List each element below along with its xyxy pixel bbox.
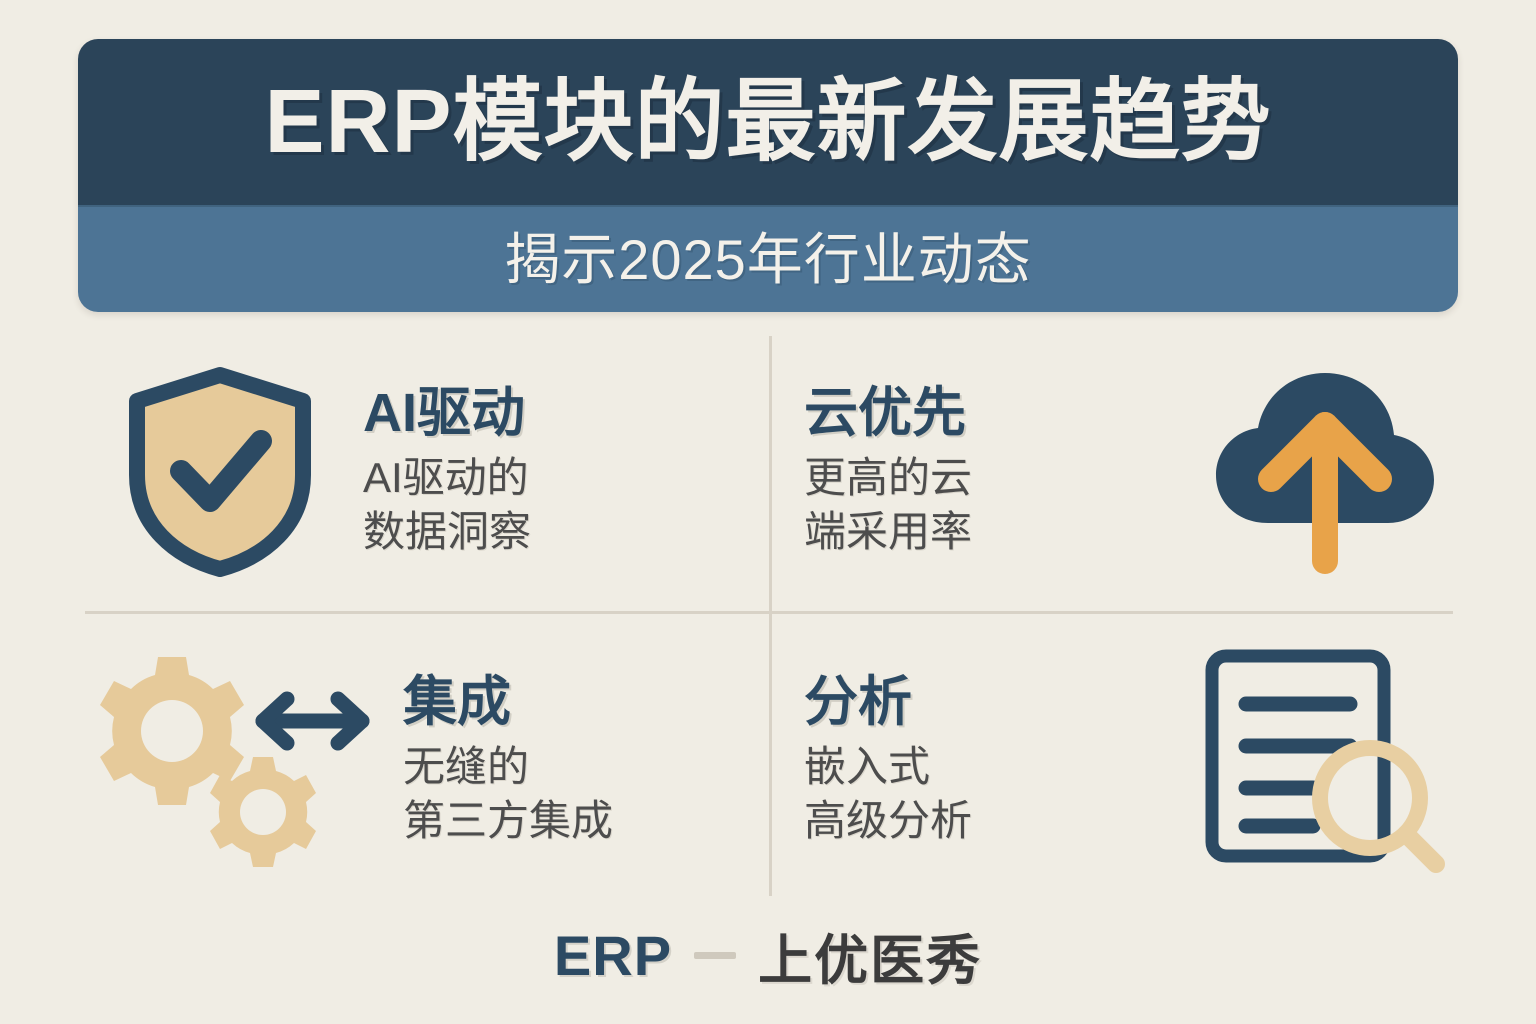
feature-desc-line2: 端采用率	[804, 505, 972, 560]
feature-heading-ai-driven: AI驱动	[363, 384, 525, 442]
feature-cell-cloud-first: 云优先 更高的云 端采用率	[790, 336, 1450, 608]
double-arrow-icon	[263, 699, 362, 743]
feature-heading-cloud-first: 云优先	[804, 384, 966, 442]
feature-desc-line2: 第三方集成	[403, 794, 613, 849]
page-subtitle: 揭示2025年行业动态	[504, 232, 1032, 288]
feature-desc-line2: 数据洞察	[363, 505, 531, 560]
footer-tagline: 上优医秀	[758, 916, 982, 995]
infographic-canvas: ERP模块的最新发展趋势 揭示2025年行业动态 AI驱动 AI驱动的 数据洞察…	[0, 0, 1536, 1024]
feature-cell-ai-driven: AI驱动 AI驱动的 数据洞察	[95, 336, 755, 608]
cloud-upload-icon	[1200, 357, 1450, 587]
feature-text-integration: 集成 无缝的 第三方集成	[385, 673, 755, 849]
footer-separator-dash	[694, 952, 736, 959]
grid-divider-horizontal	[85, 611, 1453, 614]
feature-desc-line1: 嵌入式	[804, 740, 972, 795]
shield-check-icon	[95, 357, 345, 587]
feature-desc-integration: 无缝的 第三方集成	[403, 740, 613, 849]
feature-desc-analytics: 嵌入式 高级分析	[804, 740, 972, 849]
feature-desc-line1: AI驱动的	[363, 451, 531, 506]
feature-text-analytics: 分析 嵌入式 高级分析	[790, 673, 1190, 849]
footer-brand: ERP	[554, 923, 672, 988]
feature-desc-line1: 更高的云	[804, 451, 972, 506]
feature-desc-ai-driven: AI驱动的 数据洞察	[363, 451, 531, 560]
document-search-icon	[1190, 646, 1450, 876]
subtitle-band: 揭示2025年行业动态	[78, 205, 1458, 312]
feature-desc-cloud-first: 更高的云 端采用率	[804, 451, 972, 560]
feature-cell-analytics: 分析 嵌入式 高级分析	[790, 625, 1450, 897]
footer: ERP 上优医秀	[0, 912, 1536, 998]
feature-cell-integration: 集成 无缝的 第三方集成	[95, 625, 755, 897]
feature-heading-integration: 集成	[403, 673, 511, 731]
gears-arrow-icon	[95, 646, 385, 876]
feature-desc-line1: 无缝的	[403, 740, 613, 795]
feature-heading-analytics: 分析	[804, 673, 912, 731]
feature-desc-line2: 高级分析	[804, 794, 972, 849]
title-band: ERP模块的最新发展趋势	[78, 39, 1458, 205]
feature-text-ai-driven: AI驱动 AI驱动的 数据洞察	[345, 384, 755, 560]
page-title: ERP模块的最新发展趋势	[264, 77, 1271, 167]
grid-divider-vertical	[769, 336, 772, 896]
feature-text-cloud-first: 云优先 更高的云 端采用率	[790, 384, 1200, 560]
header-panel: ERP模块的最新发展趋势 揭示2025年行业动态	[78, 39, 1458, 312]
